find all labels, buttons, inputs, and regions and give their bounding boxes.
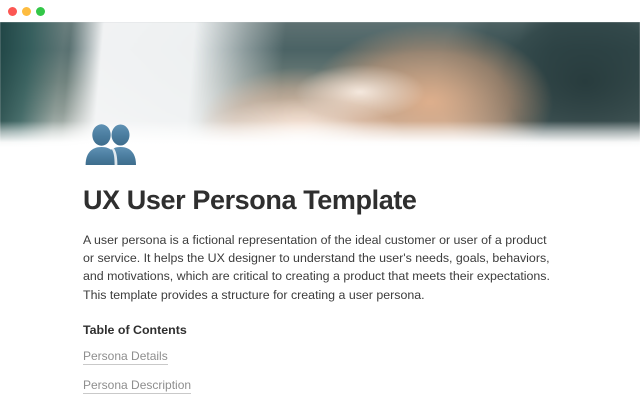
titlebar bbox=[0, 0, 640, 22]
document-body: UX User Persona Template A user persona … bbox=[0, 147, 640, 400]
app-window: UX User Persona Template A user persona … bbox=[0, 0, 640, 400]
maximize-window-button[interactable] bbox=[36, 7, 45, 16]
window-controls bbox=[8, 7, 45, 16]
intro-paragraph: A user persona is a fictional representa… bbox=[83, 231, 557, 304]
table-of-contents-heading: Table of Contents bbox=[83, 323, 483, 337]
toc-link-persona-description[interactable]: Persona Description bbox=[83, 378, 191, 394]
table-of-contents: Table of Contents Persona Details Person… bbox=[83, 323, 483, 400]
toc-link-persona-details[interactable]: Persona Details bbox=[83, 349, 168, 365]
two-people-icon bbox=[83, 123, 139, 165]
minimize-window-button[interactable] bbox=[22, 7, 31, 16]
close-window-button[interactable] bbox=[8, 7, 17, 16]
page-title: UX User Persona Template bbox=[83, 186, 417, 216]
